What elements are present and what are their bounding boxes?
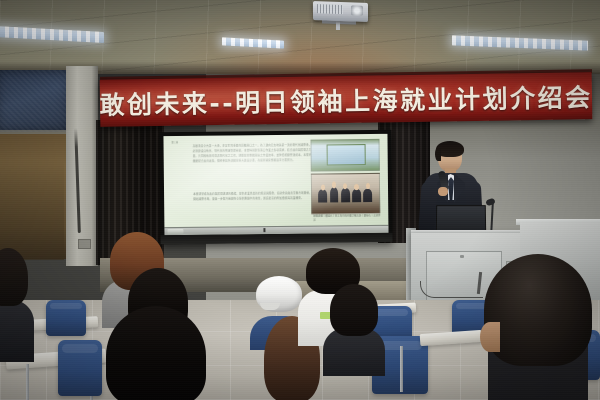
classroom-seminar-photo: 敢创未来--明日领袖上海就业计划介绍会 第三章 高雄港是全台第一大港，亦是世界重… bbox=[0, 0, 600, 400]
event-banner: 敢创未来--明日领袖上海就业计划介绍会 bbox=[100, 72, 593, 127]
projector-arm bbox=[336, 20, 340, 30]
desk-leg bbox=[26, 364, 29, 400]
attendee-hair bbox=[330, 284, 378, 336]
projection-screen: 第三章 高雄港是全台第一大港，亦是世界重要的貨櫃港口之一。為了邁向亞太地區第一流… bbox=[159, 130, 392, 244]
attendee-far-left bbox=[0, 248, 28, 348]
attendee-hair bbox=[0, 248, 28, 306]
screen-glare bbox=[163, 134, 388, 235]
projector-icon bbox=[313, 1, 368, 22]
taskbar-start-button bbox=[168, 229, 184, 234]
attendee-torso bbox=[0, 300, 34, 362]
attendee-foreground-right bbox=[482, 254, 594, 400]
attendee-ear bbox=[480, 322, 500, 352]
podium-latch bbox=[460, 255, 464, 258]
classroom-chair bbox=[58, 340, 102, 396]
attendee-foreground-left bbox=[106, 306, 206, 400]
projector-vent bbox=[317, 4, 343, 14]
presenter-hand bbox=[438, 187, 448, 196]
presenter-hair-side bbox=[435, 147, 441, 161]
attendee-back-row bbox=[330, 284, 378, 364]
bulletin-board bbox=[0, 70, 70, 132]
screen-surface: 第三章 高雄港是全台第一大港，亦是世界重要的貨櫃港口之一。為了邁向亞太地區第一流… bbox=[163, 134, 388, 235]
banner-title: 敢创未来--明日领袖上海就业计划介绍会 bbox=[100, 72, 593, 127]
wood-wall-panel-lower bbox=[0, 160, 64, 260]
floor-cable bbox=[420, 281, 483, 298]
projector-lens bbox=[351, 5, 363, 15]
wall-outlet bbox=[78, 239, 91, 249]
classroom-chair bbox=[46, 300, 86, 336]
desk-leg bbox=[400, 346, 403, 392]
attendee-hair bbox=[484, 254, 592, 366]
wall-column bbox=[66, 66, 98, 266]
attendee-hair bbox=[106, 306, 206, 400]
mouse-cursor-icon bbox=[263, 228, 265, 232]
